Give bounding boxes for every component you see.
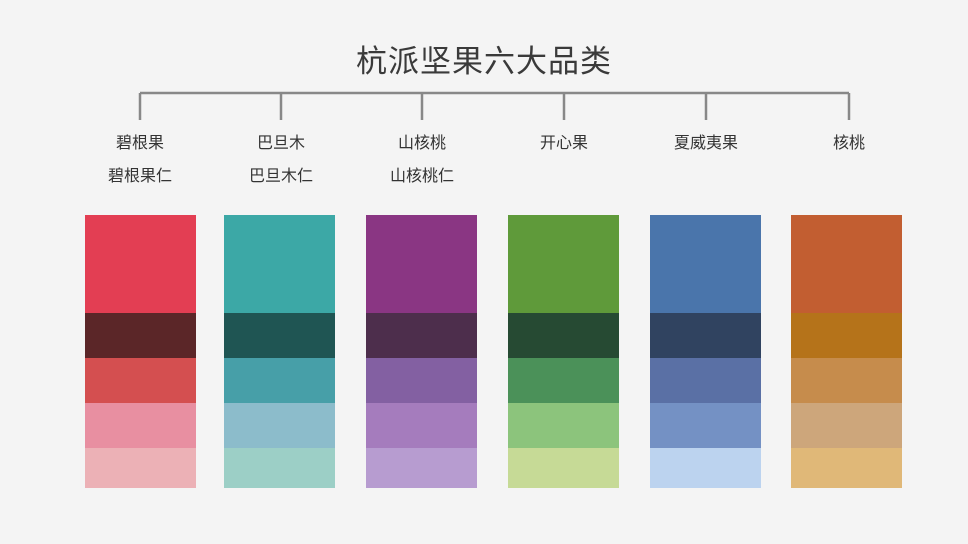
- color-swatch: [508, 215, 619, 313]
- color-swatch: [650, 215, 761, 313]
- category-label-primary: 夏威夷果: [626, 131, 786, 155]
- color-swatch: [85, 358, 196, 403]
- color-column-hetao: [791, 215, 902, 488]
- category-label-shanhetao: 山核桃山核桃仁: [342, 131, 502, 188]
- color-swatch: [224, 403, 335, 448]
- category-label-secondary: 碧根果仁: [60, 164, 220, 188]
- category-label-primary: 碧根果: [60, 131, 220, 155]
- category-label-bigenguo: 碧根果碧根果仁: [60, 131, 220, 188]
- color-swatch: [366, 448, 477, 488]
- color-swatch: [508, 358, 619, 403]
- color-swatch: [791, 313, 902, 358]
- color-swatch: [85, 313, 196, 358]
- category-label-secondary: 山核桃仁: [342, 164, 502, 188]
- color-swatch: [224, 358, 335, 403]
- color-swatch: [224, 215, 335, 313]
- color-swatch: [366, 358, 477, 403]
- color-swatch: [366, 403, 477, 448]
- color-swatch: [650, 313, 761, 358]
- color-swatch: [791, 403, 902, 448]
- category-label-hetao: 核桃: [769, 131, 929, 155]
- color-column-shanhetao: [366, 215, 477, 488]
- category-label-primary: 开心果: [484, 131, 644, 155]
- category-label-primary: 山核桃: [342, 131, 502, 155]
- color-swatch: [366, 215, 477, 313]
- color-column-bigenguo: [85, 215, 196, 488]
- color-swatch: [85, 448, 196, 488]
- color-swatch: [85, 403, 196, 448]
- color-swatch: [508, 448, 619, 488]
- color-swatch: [791, 358, 902, 403]
- color-swatch: [224, 313, 335, 358]
- category-label-kaixinguo: 开心果: [484, 131, 644, 155]
- color-swatch: [791, 215, 902, 313]
- color-column-kaixinguo: [508, 215, 619, 488]
- color-column-badanmu: [224, 215, 335, 488]
- infographic-canvas: 杭派坚果六大品类 碧根果碧根果仁巴旦木巴旦木仁山核桃山核桃仁开心果夏威夷果核桃: [0, 0, 968, 544]
- color-swatch: [791, 448, 902, 488]
- color-swatch: [650, 358, 761, 403]
- color-swatch: [650, 403, 761, 448]
- category-label-secondary: 巴旦木仁: [201, 164, 361, 188]
- page-title: 杭派坚果六大品类: [0, 42, 968, 82]
- color-swatch: [224, 448, 335, 488]
- color-column-xiaweiyiguo: [650, 215, 761, 488]
- color-swatch: [366, 313, 477, 358]
- color-swatch: [650, 448, 761, 488]
- category-label-primary: 核桃: [769, 131, 929, 155]
- color-swatch: [508, 403, 619, 448]
- color-swatch: [508, 313, 619, 358]
- category-label-badanmu: 巴旦木巴旦木仁: [201, 131, 361, 188]
- category-label-primary: 巴旦木: [201, 131, 361, 155]
- category-label-xiaweiyiguo: 夏威夷果: [626, 131, 786, 155]
- color-swatch: [85, 215, 196, 313]
